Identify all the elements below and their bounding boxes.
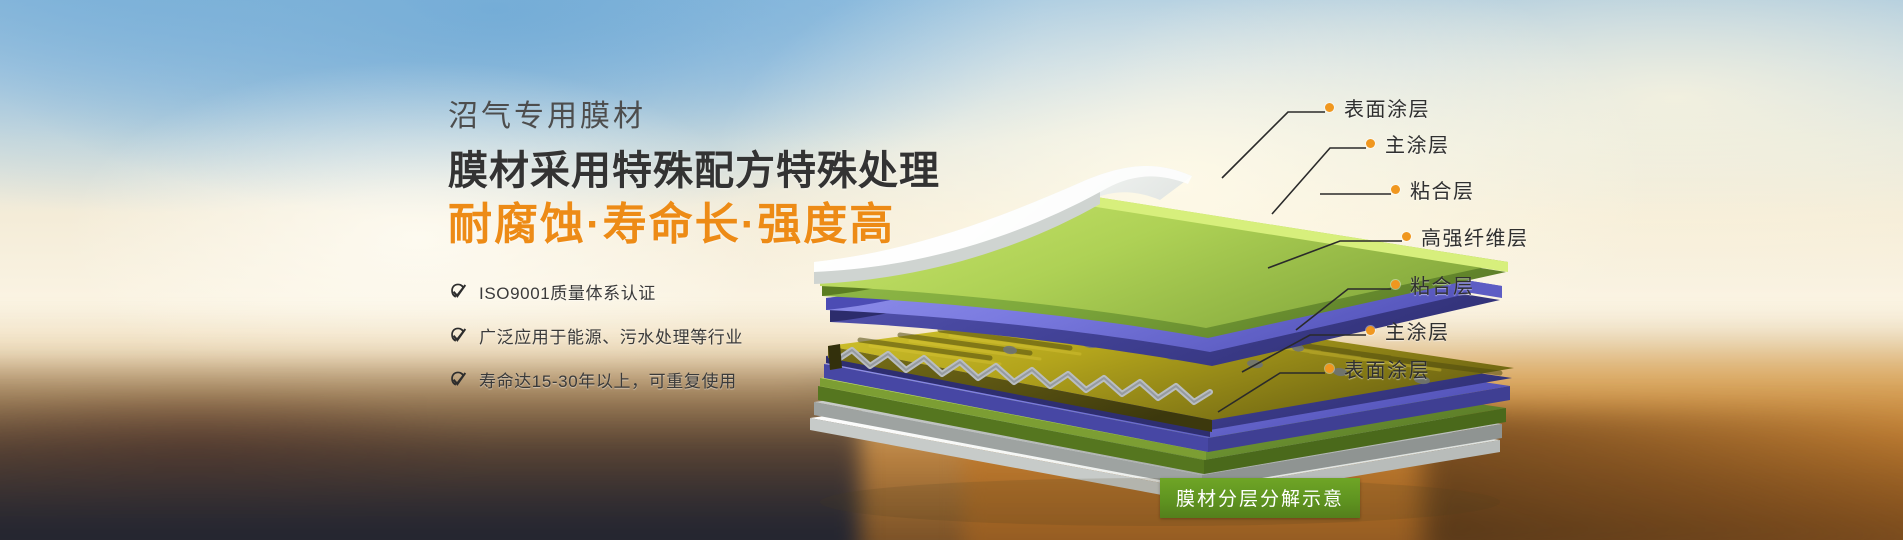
callout-label: 主涂层 <box>1385 129 1450 158</box>
illustration-caption-badge: 膜材分层分解示意 <box>1160 478 1360 518</box>
callout-main-coat-top: 主涂层 <box>1366 129 1450 158</box>
callout-dot-icon <box>1366 139 1375 148</box>
callout-surface-coat-top: 表面涂层 <box>1325 93 1430 122</box>
callout-fiber-layer: 高强纤维层 <box>1402 222 1529 251</box>
callout-label: 主涂层 <box>1385 316 1450 345</box>
callout-dot-icon <box>1402 232 1411 241</box>
callout-dot-icon <box>1325 103 1334 112</box>
callout-dot-icon <box>1325 364 1334 373</box>
callout-label: 高强纤维层 <box>1421 222 1529 251</box>
callout-label: 表面涂层 <box>1344 354 1430 383</box>
callout-dot-icon <box>1391 280 1400 289</box>
callout-surface-coat-bottom: 表面涂层 <box>1325 354 1430 383</box>
callout-label-group: 表面涂层 主涂层 粘合层 高强纤维层 粘合层 主涂层 表面涂层 <box>0 0 1903 540</box>
callout-main-coat-bottom: 主涂层 <box>1366 316 1450 345</box>
callout-bond-layer-top: 粘合层 <box>1391 175 1475 204</box>
callout-label: 粘合层 <box>1410 270 1475 299</box>
callout-label: 粘合层 <box>1410 175 1475 204</box>
callout-label: 表面涂层 <box>1344 93 1430 122</box>
callout-dot-icon <box>1391 185 1400 194</box>
callout-dot-icon <box>1366 326 1375 335</box>
callout-bond-layer-bottom: 粘合层 <box>1391 270 1475 299</box>
product-banner: 沼气专用膜材 膜材采用特殊配方特殊处理 耐腐蚀·寿命长·强度高 ISO9001质… <box>0 0 1903 540</box>
